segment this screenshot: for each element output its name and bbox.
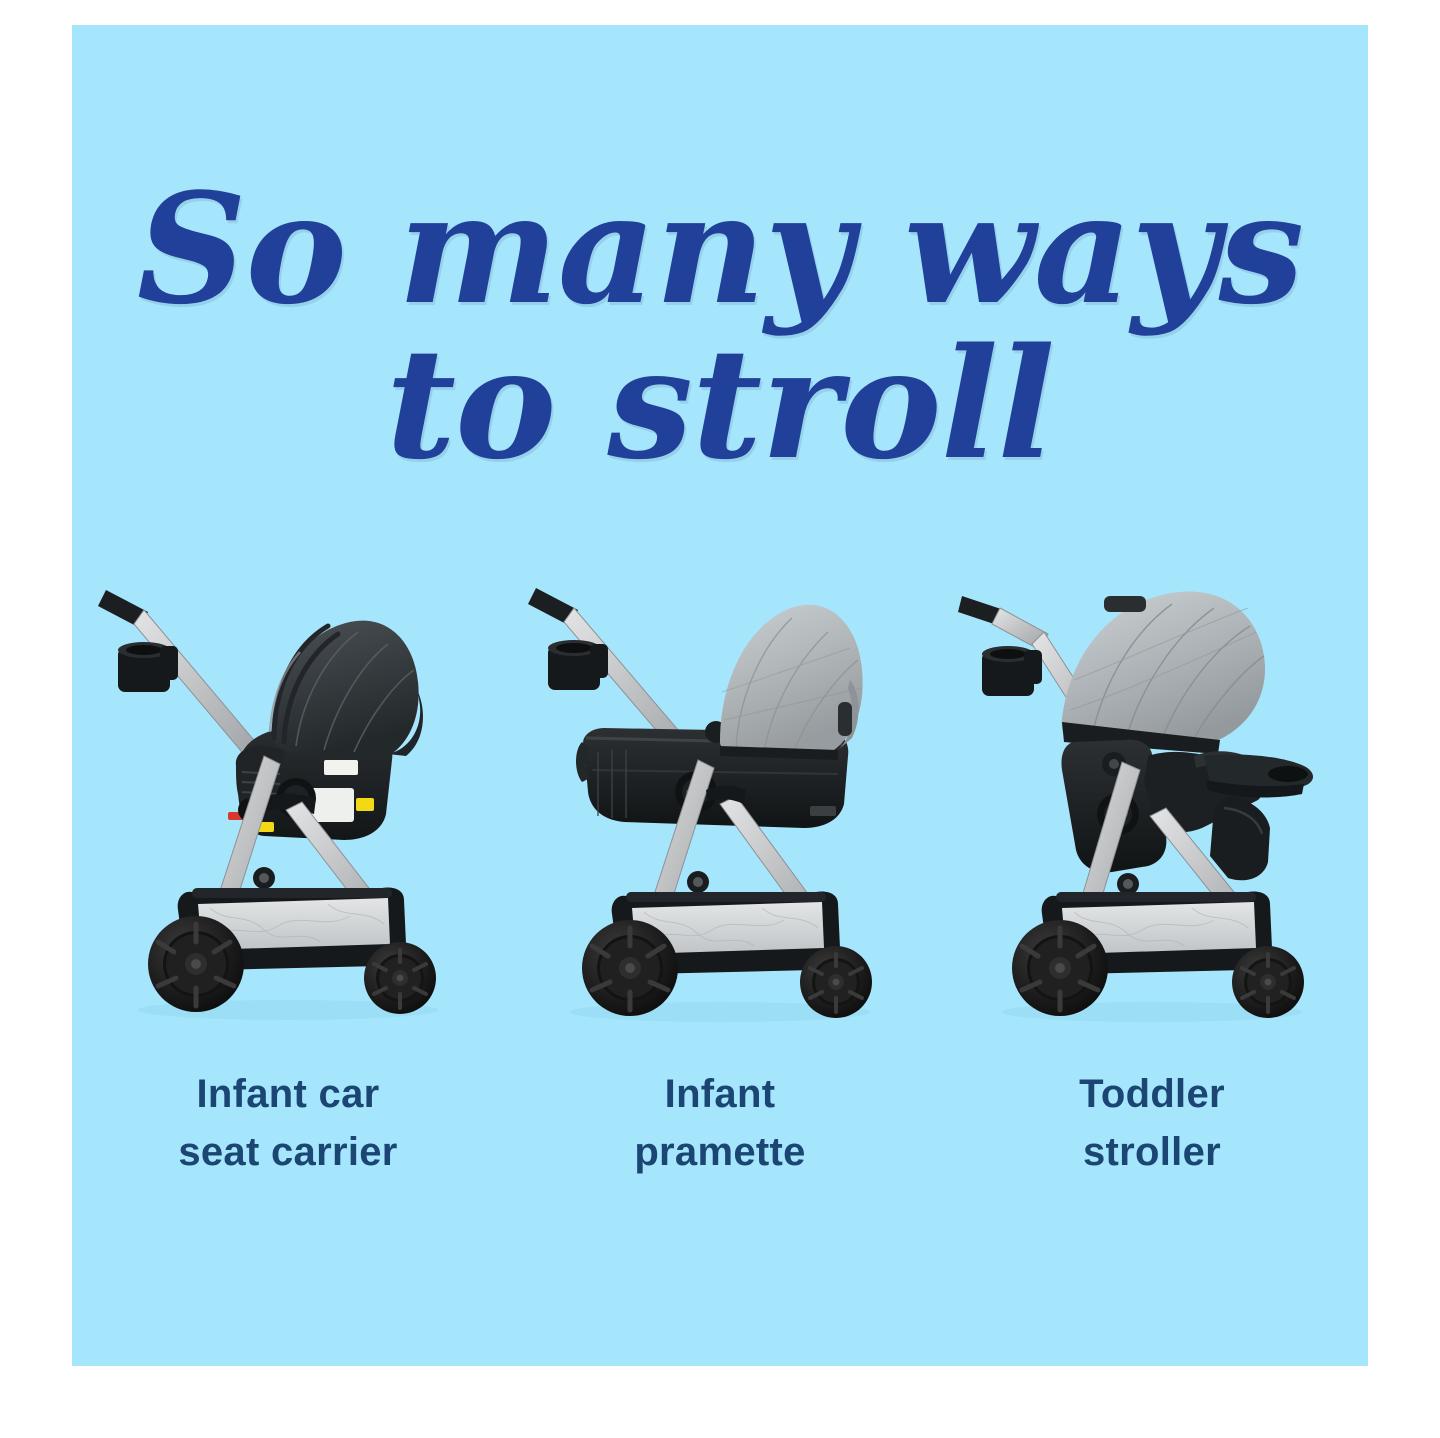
product-image-row bbox=[72, 530, 1368, 1030]
product-image-infant-pramette bbox=[520, 530, 920, 1030]
rear-wheel bbox=[1012, 920, 1108, 1016]
caption-infant-pramette: Infant pramette bbox=[520, 1065, 920, 1181]
front-wheel bbox=[1232, 946, 1304, 1018]
rear-wheel bbox=[582, 920, 678, 1016]
caption-toddler-stroller: Toddler stroller bbox=[952, 1065, 1352, 1181]
child-tray bbox=[1204, 754, 1313, 797]
headline-line-1: So many ways bbox=[72, 175, 1368, 324]
pramette-canopy bbox=[720, 605, 863, 760]
caption-line-1: Infant bbox=[520, 1065, 920, 1123]
product-caption-row: Infant car seat carrier Infant pramette … bbox=[72, 1065, 1368, 1181]
caption-line-2: seat carrier bbox=[88, 1123, 488, 1181]
stroller-illustration-toddler bbox=[952, 560, 1352, 1030]
product-image-infant-car-seat-carrier bbox=[88, 530, 488, 1030]
headline-line-2: to stroll bbox=[72, 330, 1368, 479]
cup-holder bbox=[982, 646, 1042, 696]
rear-wheel bbox=[148, 916, 244, 1012]
front-wheel bbox=[364, 942, 436, 1014]
promo-panel: So many ways to stroll bbox=[72, 25, 1368, 1366]
product-image-toddler-stroller bbox=[952, 530, 1352, 1030]
stroller-illustration-car-seat bbox=[88, 560, 488, 1030]
caption-infant-car-seat-carrier: Infant car seat carrier bbox=[88, 1065, 488, 1181]
front-wheel bbox=[800, 946, 872, 1018]
caption-line-1: Infant car bbox=[88, 1065, 488, 1123]
cup-holder bbox=[118, 642, 178, 692]
warning-label bbox=[324, 760, 358, 775]
canopy-handle bbox=[1104, 596, 1146, 612]
tray-cup-recess bbox=[1268, 766, 1308, 782]
caption-line-2: pramette bbox=[520, 1123, 920, 1181]
toddler-canopy bbox=[1062, 592, 1265, 754]
canopy-handle bbox=[838, 702, 852, 736]
caption-line-1: Toddler bbox=[952, 1065, 1352, 1123]
screenshot-canvas: So many ways to stroll bbox=[0, 0, 1440, 1438]
caption-line-2: stroller bbox=[952, 1123, 1352, 1181]
stroller-illustration-pramette bbox=[520, 560, 920, 1030]
cup-holder bbox=[548, 640, 608, 690]
car-seat-canopy bbox=[270, 621, 423, 756]
page-title: So many ways to stroll bbox=[72, 175, 1368, 479]
